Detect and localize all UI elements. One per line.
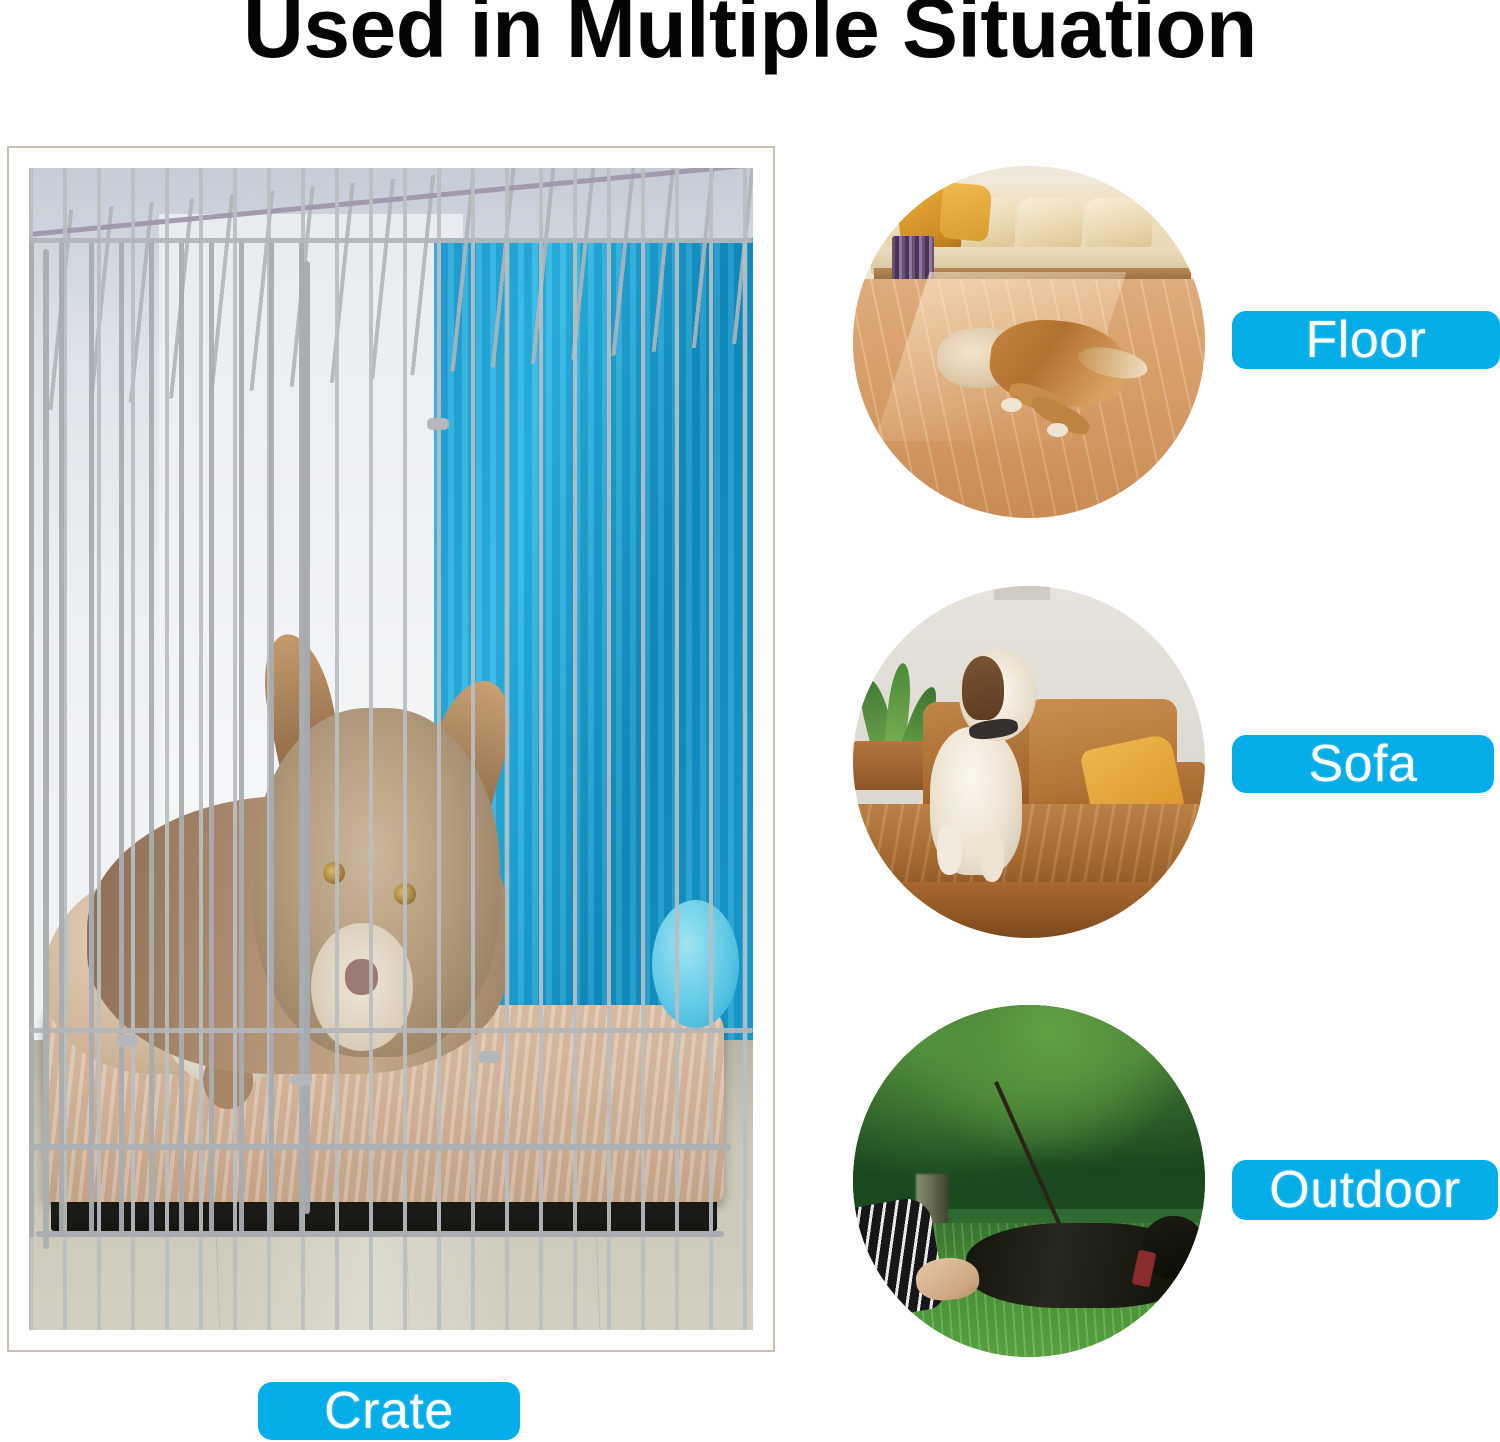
crate-top-rail [29, 238, 753, 243]
crate-door-wires [29, 238, 319, 1237]
sofa-scene-dog-leg [980, 832, 1005, 881]
floor-scene-dog-paw [1047, 423, 1068, 437]
badge-sofa[interactable]: Sofa [1232, 735, 1494, 793]
crate-left-post [43, 249, 49, 1248]
scene-photo-floor [853, 166, 1205, 518]
crate-lower-rail [29, 1144, 731, 1150]
floor-scene-gold-pillow [939, 182, 993, 242]
badge-floor[interactable]: Floor [1232, 311, 1500, 369]
sofa-scene-plant-pot [853, 741, 930, 790]
crate-clip [290, 1074, 312, 1086]
crate-clip [427, 418, 449, 430]
sofa-scene-seat-front [853, 882, 1205, 938]
scene-photo-outdoor [853, 1005, 1205, 1357]
scene-photo-sofa [853, 586, 1205, 938]
floor-scene-cushion [1018, 198, 1081, 254]
outdoor-scene-tree-canopy [853, 1005, 1205, 1209]
sofa-scene-wall-vent [994, 586, 1050, 600]
badge-crate[interactable]: Crate [258, 1382, 520, 1440]
sofa-scene-dog-leg [937, 825, 962, 874]
crate-photo [29, 168, 753, 1330]
sofa-scene-dog-face [962, 656, 1004, 719]
crate-clip [478, 1051, 500, 1063]
floor-scene-cushion [1085, 198, 1152, 254]
crate-middle-rail [29, 1028, 753, 1033]
crate-photo-frame [7, 146, 775, 1352]
infographic-page: Used in Multiple Situation [0, 0, 1500, 1442]
page-title: Used in Multiple Situation [0, 0, 1500, 70]
crate-base-rail [36, 1231, 724, 1237]
badge-outdoor[interactable]: Outdoor [1232, 1160, 1498, 1220]
crate-clip [116, 1035, 138, 1047]
crate-door-post [304, 261, 310, 1214]
